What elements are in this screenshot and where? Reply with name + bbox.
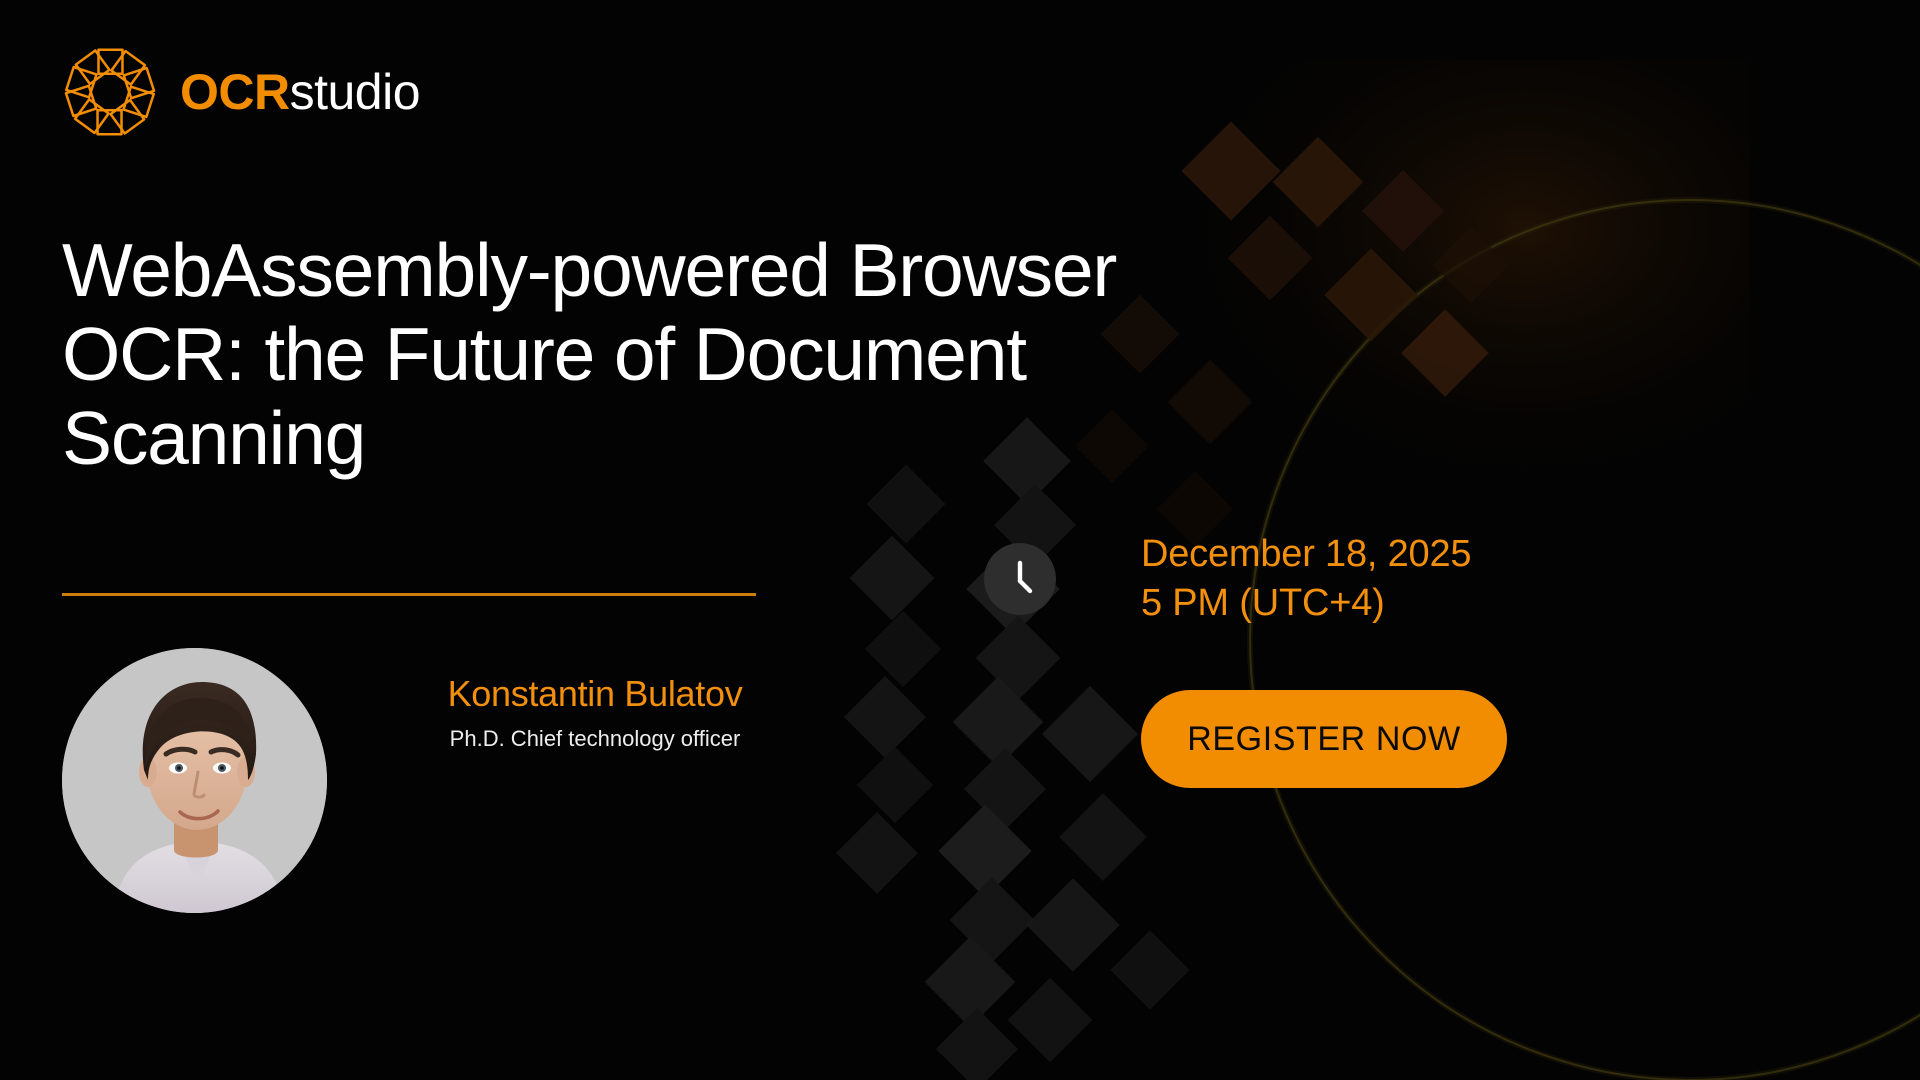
speaker-name: Konstantin Bulatov bbox=[385, 673, 805, 714]
event-date: December 18, 2025 bbox=[1141, 530, 1471, 579]
register-now-button[interactable]: REGISTER NOW bbox=[1141, 690, 1507, 788]
speaker-info: Konstantin Bulatov Ph.D. Chief technolog… bbox=[385, 648, 805, 753]
event-datetime: December 18, 2025 5 PM (UTC+4) bbox=[1141, 530, 1471, 627]
title-line-1: WebAssembly-powered Browser bbox=[62, 228, 1242, 312]
background-decoration bbox=[0, 0, 1920, 1080]
clock-badge bbox=[984, 543, 1056, 615]
brand-name-bold: OCR bbox=[180, 67, 290, 117]
title-line-3: Scanning bbox=[62, 396, 1242, 480]
speaker-portrait-icon bbox=[62, 648, 327, 913]
event-time: 5 PM (UTC+4) bbox=[1141, 579, 1471, 628]
brand-logo[interactable]: OCRstudio bbox=[62, 44, 420, 140]
title-line-2: OCR: the Future of Document bbox=[62, 312, 1242, 396]
webinar-banner: OCRstudio WebAssembly-powered Browser OC… bbox=[0, 0, 1920, 1080]
brand-name-light: studio bbox=[290, 67, 420, 117]
clock-icon bbox=[984, 543, 1056, 615]
page-title: WebAssembly-powered Browser OCR: the Fut… bbox=[62, 228, 1242, 480]
rosette-logo-icon bbox=[62, 44, 158, 140]
brand-wordmark: OCRstudio bbox=[180, 67, 420, 117]
speaker-block: Konstantin Bulatov Ph.D. Chief technolog… bbox=[62, 648, 805, 913]
speaker-role: Ph.D. Chief technology officer bbox=[385, 726, 805, 752]
avatar bbox=[62, 648, 327, 913]
section-divider bbox=[62, 593, 756, 596]
